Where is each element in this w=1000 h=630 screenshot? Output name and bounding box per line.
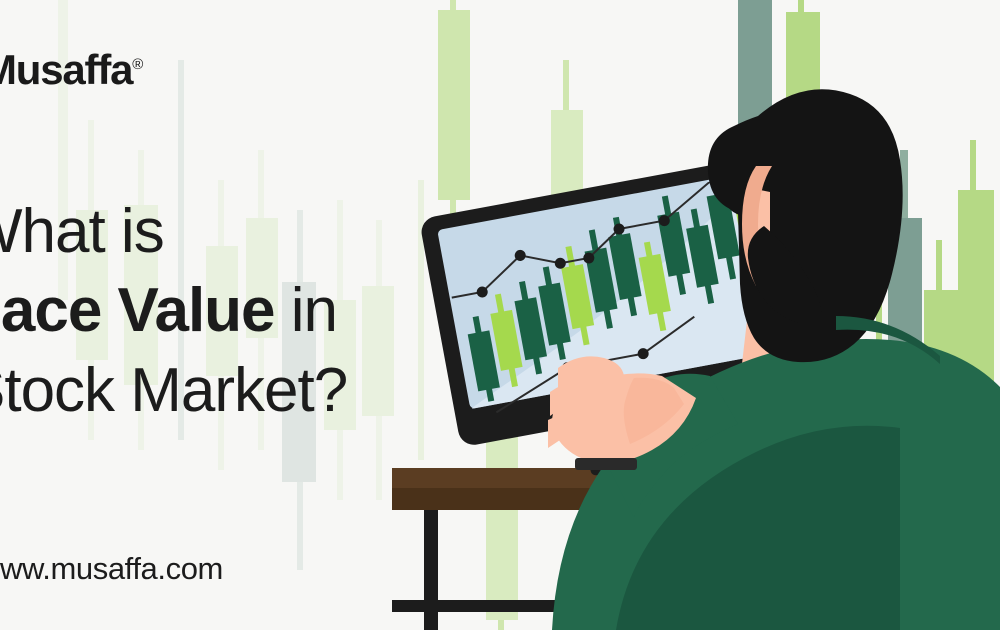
website-url: www.musaffa.com [0, 551, 223, 587]
page-title: What is Face Value in Stock Market? [0, 192, 484, 430]
title-emphasis: Face Value [0, 276, 275, 345]
title-line-1: What is [0, 192, 484, 271]
title-line-3: Stock Market? [0, 351, 484, 430]
brand-logo: Musaffa® [0, 46, 143, 94]
title-line-2: Face Value in [0, 271, 484, 350]
text-content-layer: Musaffa® What is Face Value in Stock Mar… [0, 0, 1000, 630]
title-line-2-rest: in [275, 276, 337, 345]
poster-canvas: Musaffa® What is Face Value in Stock Mar… [0, 0, 1000, 630]
registered-trademark-icon: ® [132, 56, 143, 73]
brand-name: Musaffa [0, 46, 132, 93]
